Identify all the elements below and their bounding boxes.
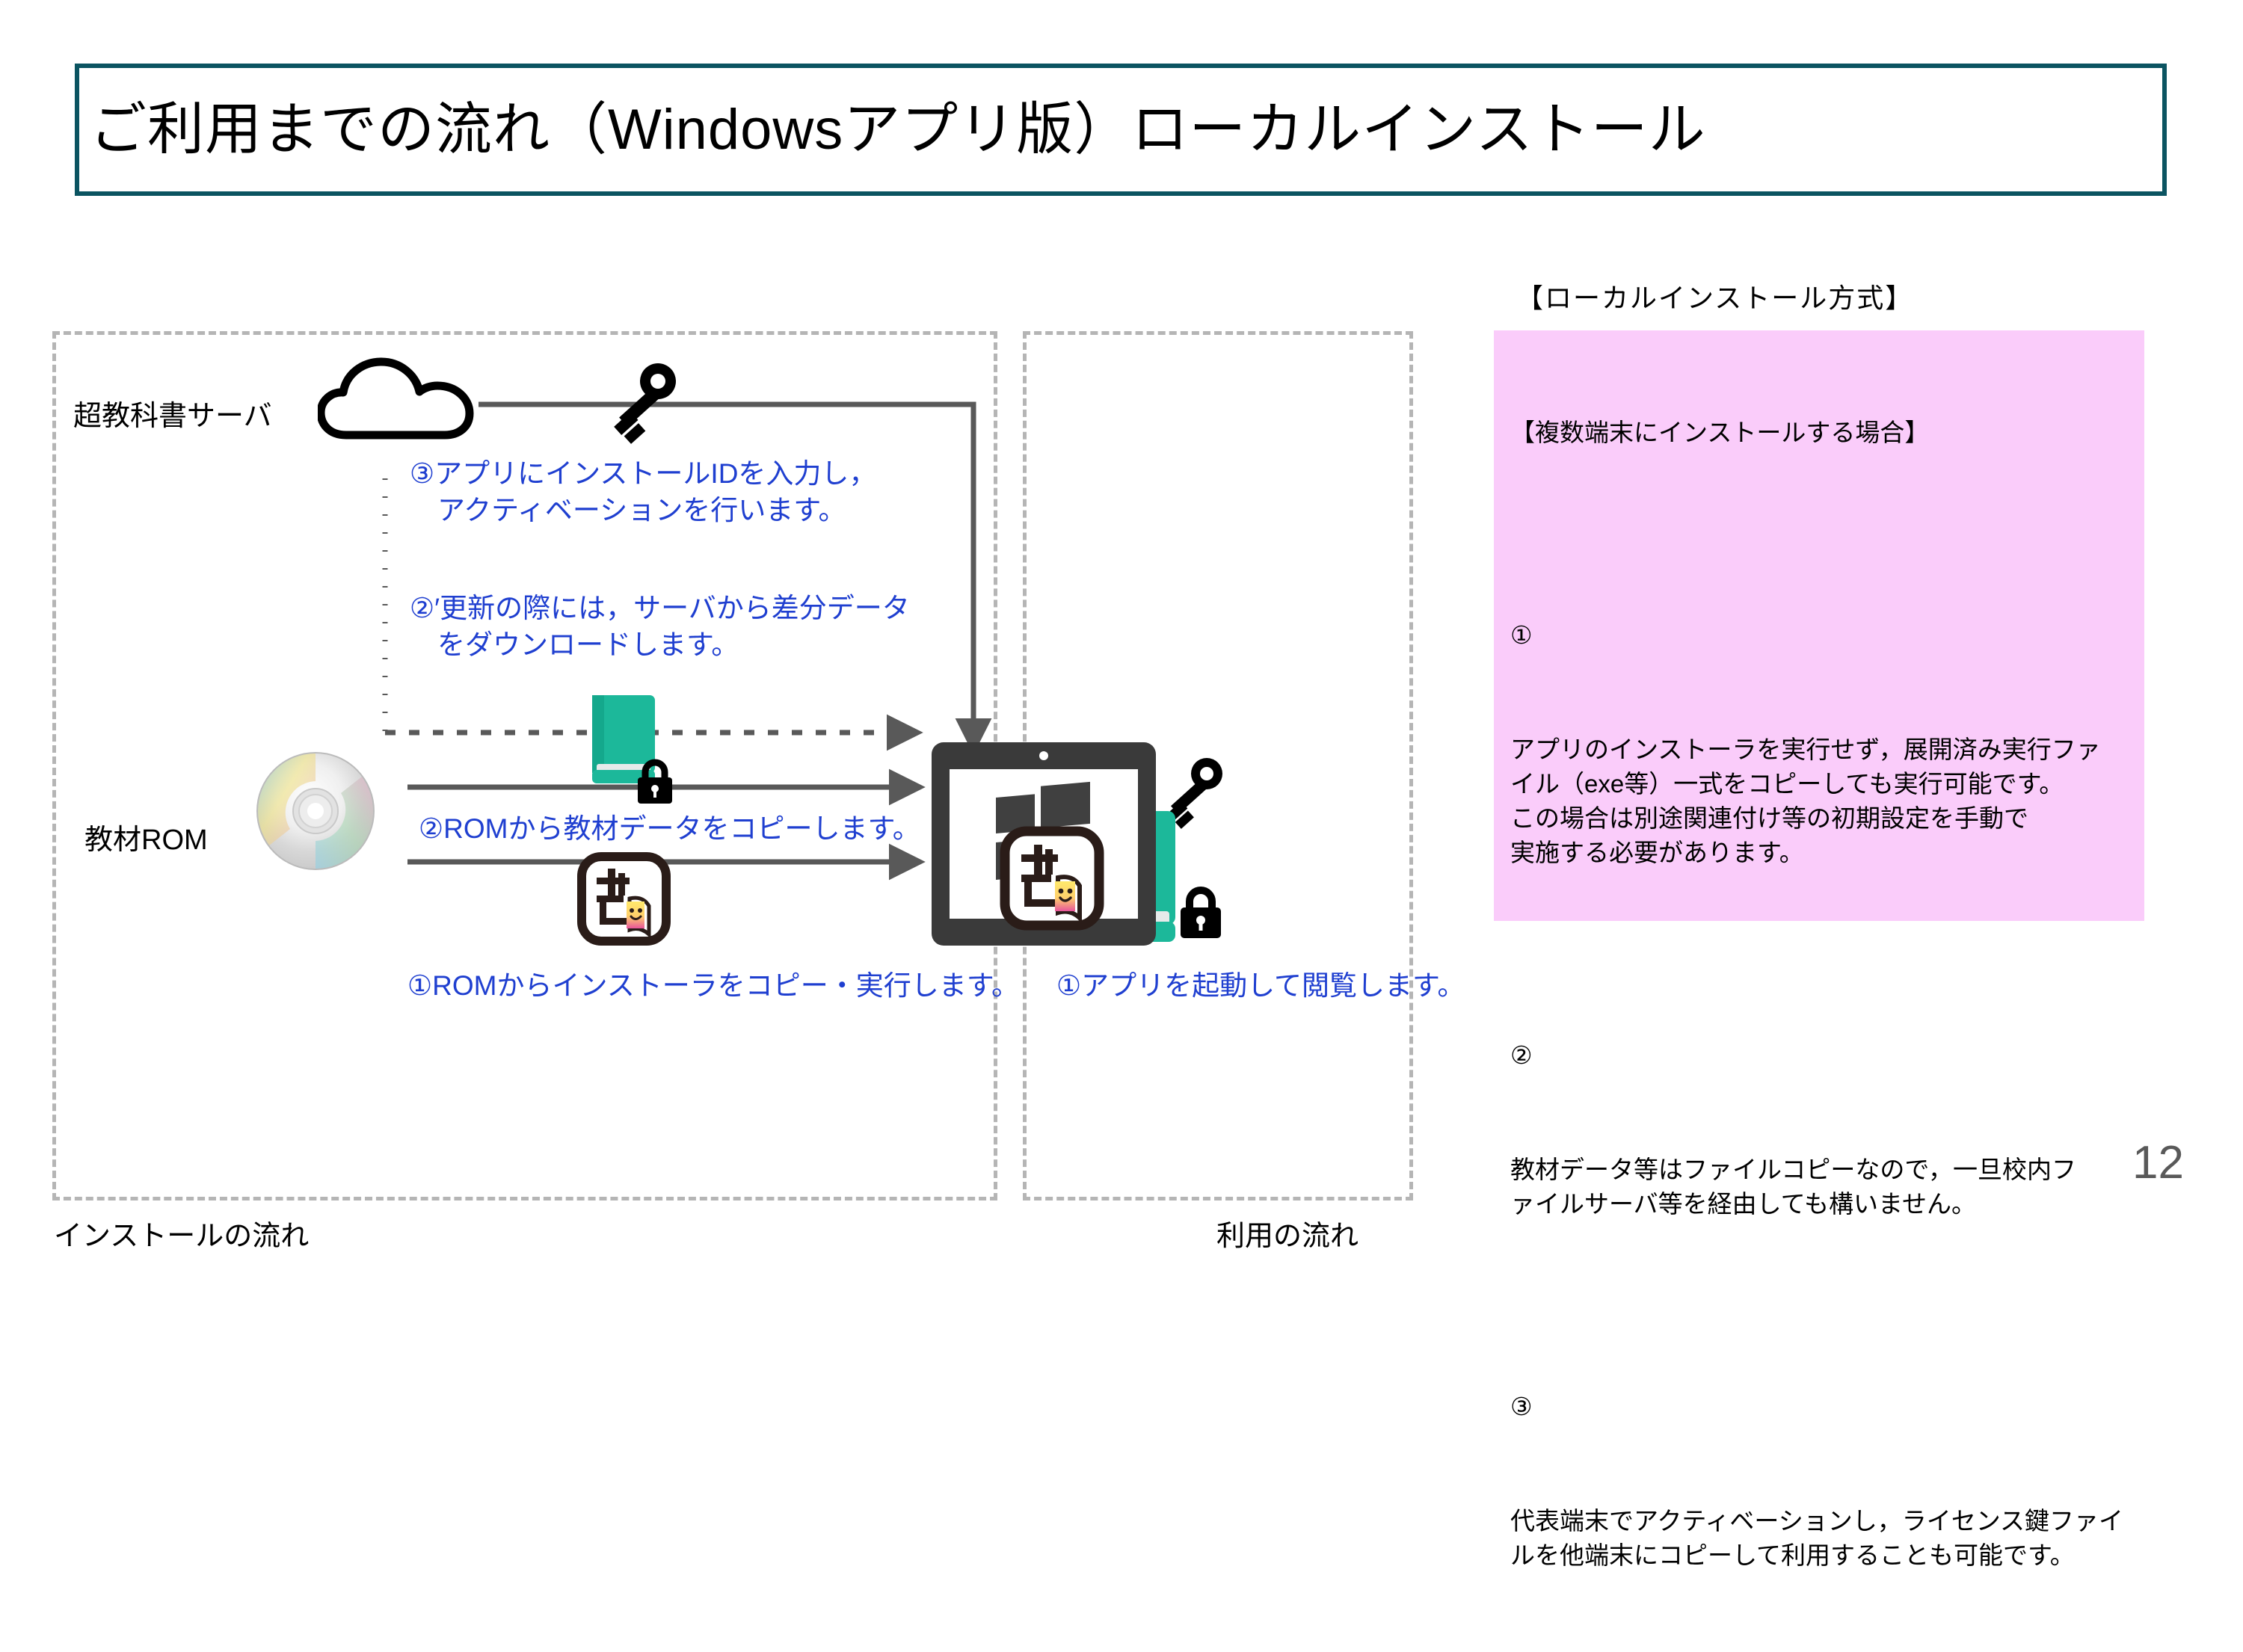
panel-heading: 【複数端末にインストールする場合】 <box>1510 416 2135 450</box>
rom-label: 教材ROM <box>84 816 208 857</box>
usage-flow-caption: 利用の流れ <box>1216 1212 1359 1254</box>
note-activation: ③アプリにインストールIDを入力し， アクティベーションを行います。 <box>410 456 876 529</box>
panel-item-marker-3: ③ <box>1510 1390 2135 1424</box>
padlock-icon <box>1178 886 1224 940</box>
panel-item-marker-2: ② <box>1510 1038 2135 1073</box>
padlock-icon <box>636 759 674 805</box>
panel-item-text-1: アプリのインストーラを実行せず，展開済み実行ファ イル（exe等）一式をコピーし… <box>1510 733 2135 871</box>
note-update: ②′更新の際には，サーバから差分データ をダウンロードします。 <box>410 591 910 664</box>
page-title: ご利用までの流れ（Windowsアプリ版）ローカルインストール <box>90 99 1706 161</box>
install-flow-caption: インストールの流れ <box>54 1212 309 1254</box>
cho-kyokasho-app-icon <box>1000 826 1104 931</box>
cd-rom-icon <box>256 751 375 871</box>
note-copy-data: ②ROMから教材データをコピーします。 <box>419 811 920 848</box>
page-number: 12 <box>2132 1136 2184 1189</box>
server-label: 超教科書サーバ <box>73 392 272 434</box>
panel-item-text-3: 代表端末でアクティベーションし，ライセンス鍵ファイ ルを他端末にコピーして利用す… <box>1510 1504 2135 1573</box>
key-icon <box>1166 757 1226 829</box>
key-icon <box>613 363 680 445</box>
note-copy-installer: ①ROMからインストーラをコピー・実行します。 <box>407 968 1019 1005</box>
panel-title: 【ローカルインストール方式】 <box>1516 277 1913 315</box>
local-install-info-panel: 【複数端末にインストールする場合】 ① アプリのインストーラを実行せず，展開済み… <box>1494 330 2144 921</box>
cho-kyokasho-app-icon <box>577 852 671 946</box>
panel-item-text-2: 教材データ等はファイルコピーなので，一旦校内フ ァイルサーバ等を経由しても構いま… <box>1510 1153 2135 1221</box>
slide-title-box: ご利用までの流れ（Windowsアプリ版）ローカルインストール <box>75 64 2167 196</box>
panel-item-marker-1: ① <box>1510 618 2135 653</box>
cloud-icon <box>318 357 482 440</box>
note-launch-app: ①アプリを起動して閲覧します。 <box>1056 968 1465 1005</box>
